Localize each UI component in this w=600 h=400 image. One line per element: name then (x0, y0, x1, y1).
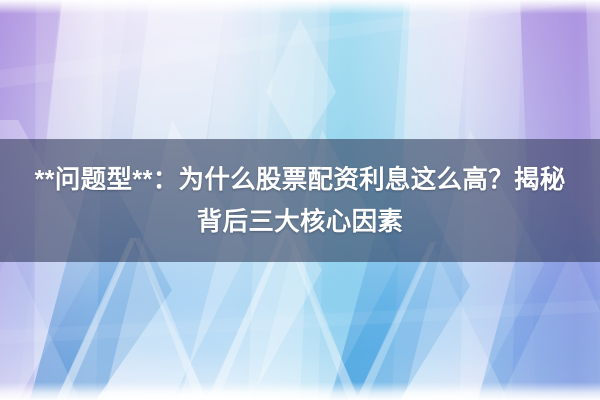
caption-line-1: **问题型**：为什么股票配资利息这么高？揭秘 (34, 159, 565, 201)
caption-line-2: 背后三大核心因素 (197, 201, 403, 243)
caption-overlay-band: **问题型**：为什么股票配资利息这么高？揭秘 背后三大核心因素 (0, 139, 600, 262)
banner-image: **问题型**：为什么股票配资利息这么高？揭秘 背后三大核心因素 (0, 0, 600, 400)
